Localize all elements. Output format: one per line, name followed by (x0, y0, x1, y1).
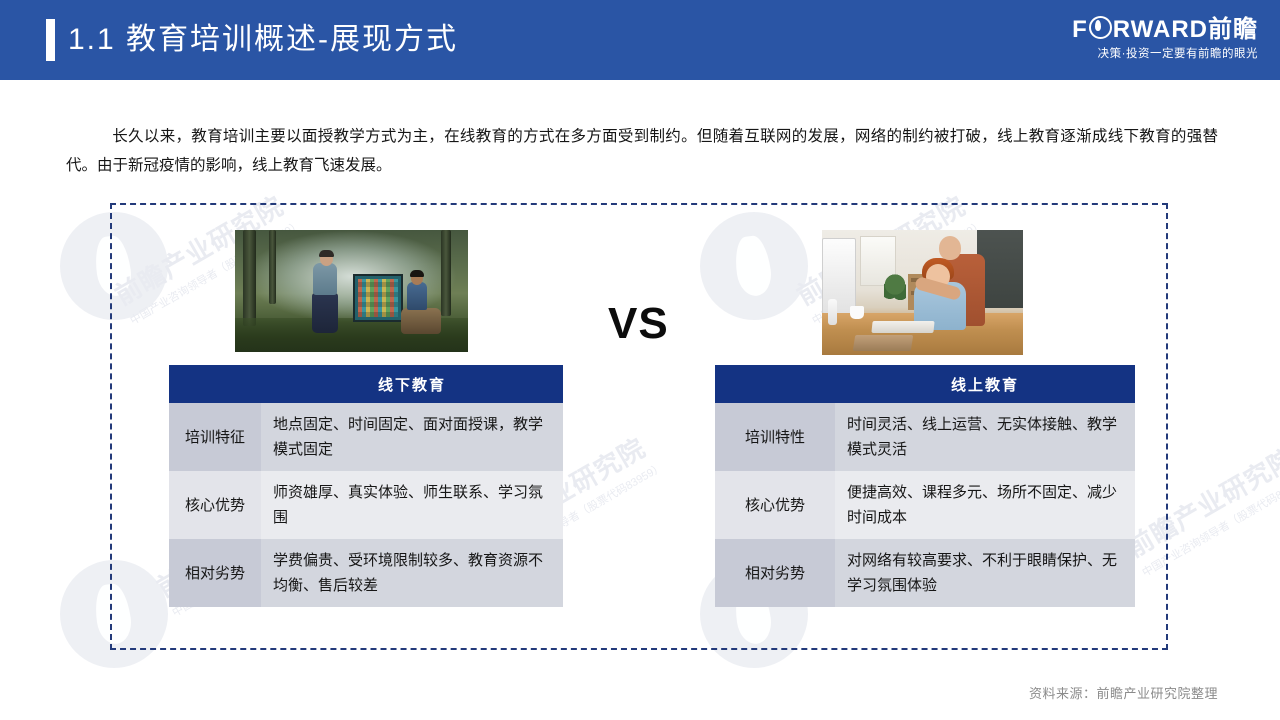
brand-name-suffix: RWARD前瞻 (1113, 16, 1258, 43)
cup (850, 306, 864, 319)
row-key: 培训特征 (169, 403, 261, 471)
bottle (828, 299, 837, 325)
row-key: 相对劣势 (169, 539, 261, 607)
mother-head (939, 236, 961, 260)
online-education-photo (822, 230, 1023, 355)
offline-education-table: 线下教育 培训特征 地点固定、时间固定、面对面授课，教学模式固定 核心优势 师资… (169, 365, 563, 607)
teacher-head (320, 252, 333, 266)
intro-paragraph: 长久以来，教育培训主要以面授教学方式为主，在线教育的方式在多方面受到制约。但随着… (66, 122, 1218, 180)
teacher-body (313, 263, 337, 295)
brand-name: FRWARD前瞻 (1072, 16, 1258, 42)
table-row: 核心优势 师资雄厚、真实体验、师生联系、学习氛围 (169, 471, 563, 539)
plant (884, 274, 906, 304)
row-value: 对网络有较高要求、不利于眼睛保护、无学习氛围体验 (835, 539, 1135, 607)
offline-header-title: 线下教育 (261, 365, 563, 403)
tree-stump (401, 308, 441, 334)
row-key: 核心优势 (169, 471, 261, 539)
row-value: 地点固定、时间固定、面对面授课，教学模式固定 (261, 403, 563, 471)
row-value: 师资雄厚、真实体验、师生联系、学习氛围 (261, 471, 563, 539)
vs-label: VS (608, 302, 669, 346)
row-value: 时间灵活、线上运营、无实体接触、教学模式灵活 (835, 403, 1135, 471)
row-value: 便捷高效、课程多元、场所不固定、减少时间成本 (835, 471, 1135, 539)
brand-name-prefix: F (1072, 16, 1088, 43)
brand-logo: FRWARD前瞻 决策·投资一定要有前瞻的眼光 (1072, 16, 1258, 61)
table-row: 相对劣势 学费偏贵、受环境限制较多、教育资源不均衡、售后较差 (169, 539, 563, 607)
keyboard (871, 321, 934, 333)
online-header-title: 线上教育 (835, 365, 1135, 403)
page-title-text: 1.1 教育培训概述-展现方式 (68, 25, 458, 55)
table-row: 培训特性 时间灵活、线上运营、无实体接触、教学模式灵活 (715, 403, 1135, 471)
offline-education-photo (235, 230, 468, 352)
row-key: 相对劣势 (715, 539, 835, 607)
blackboard (353, 274, 403, 322)
table-row: 核心优势 便捷高效、课程多元、场所不固定、减少时间成本 (715, 471, 1135, 539)
row-key: 培训特性 (715, 403, 835, 471)
laptop (853, 335, 914, 351)
intro-text: 长久以来，教育培训主要以面授教学方式为主，在线教育的方式在多方面受到制约。但随着… (66, 128, 1218, 174)
table-header-row: 线下教育 (169, 365, 563, 403)
title-accent-bar (46, 19, 55, 61)
table-header-row: 线上教育 (715, 365, 1135, 403)
row-value: 学费偏贵、受环境限制较多、教育资源不均衡、售后较差 (261, 539, 563, 607)
teacher-skirt (312, 293, 338, 333)
online-education-table: 线上教育 培训特性 时间灵活、线上运营、无实体接触、教学模式灵活 核心优势 便捷… (715, 365, 1135, 607)
slide-header: 1.1 教育培训概述-展现方式 FRWARD前瞻 决策·投资一定要有前瞻的眼光 (0, 0, 1280, 80)
table-row: 培训特征 地点固定、时间固定、面对面授课，教学模式固定 (169, 403, 563, 471)
table-row: 相对劣势 对网络有较高要求、不利于眼睛保护、无学习氛围体验 (715, 539, 1135, 607)
header-blank-cell (169, 365, 261, 403)
source-note: 资料来源：前瞻产业研究院整理 (1029, 683, 1218, 702)
header-blank-cell (715, 365, 835, 403)
page-title: 1.1 教育培训概述-展现方式 (46, 19, 458, 61)
brand-tagline: 决策·投资一定要有前瞻的眼光 (1072, 45, 1258, 61)
student-body (407, 282, 427, 310)
row-key: 核心优势 (715, 471, 835, 539)
forward-o-icon (1089, 16, 1112, 39)
tree-trunk (441, 230, 451, 316)
student-head (411, 272, 423, 285)
tree-trunk (269, 230, 276, 304)
tree-trunk (243, 230, 256, 326)
